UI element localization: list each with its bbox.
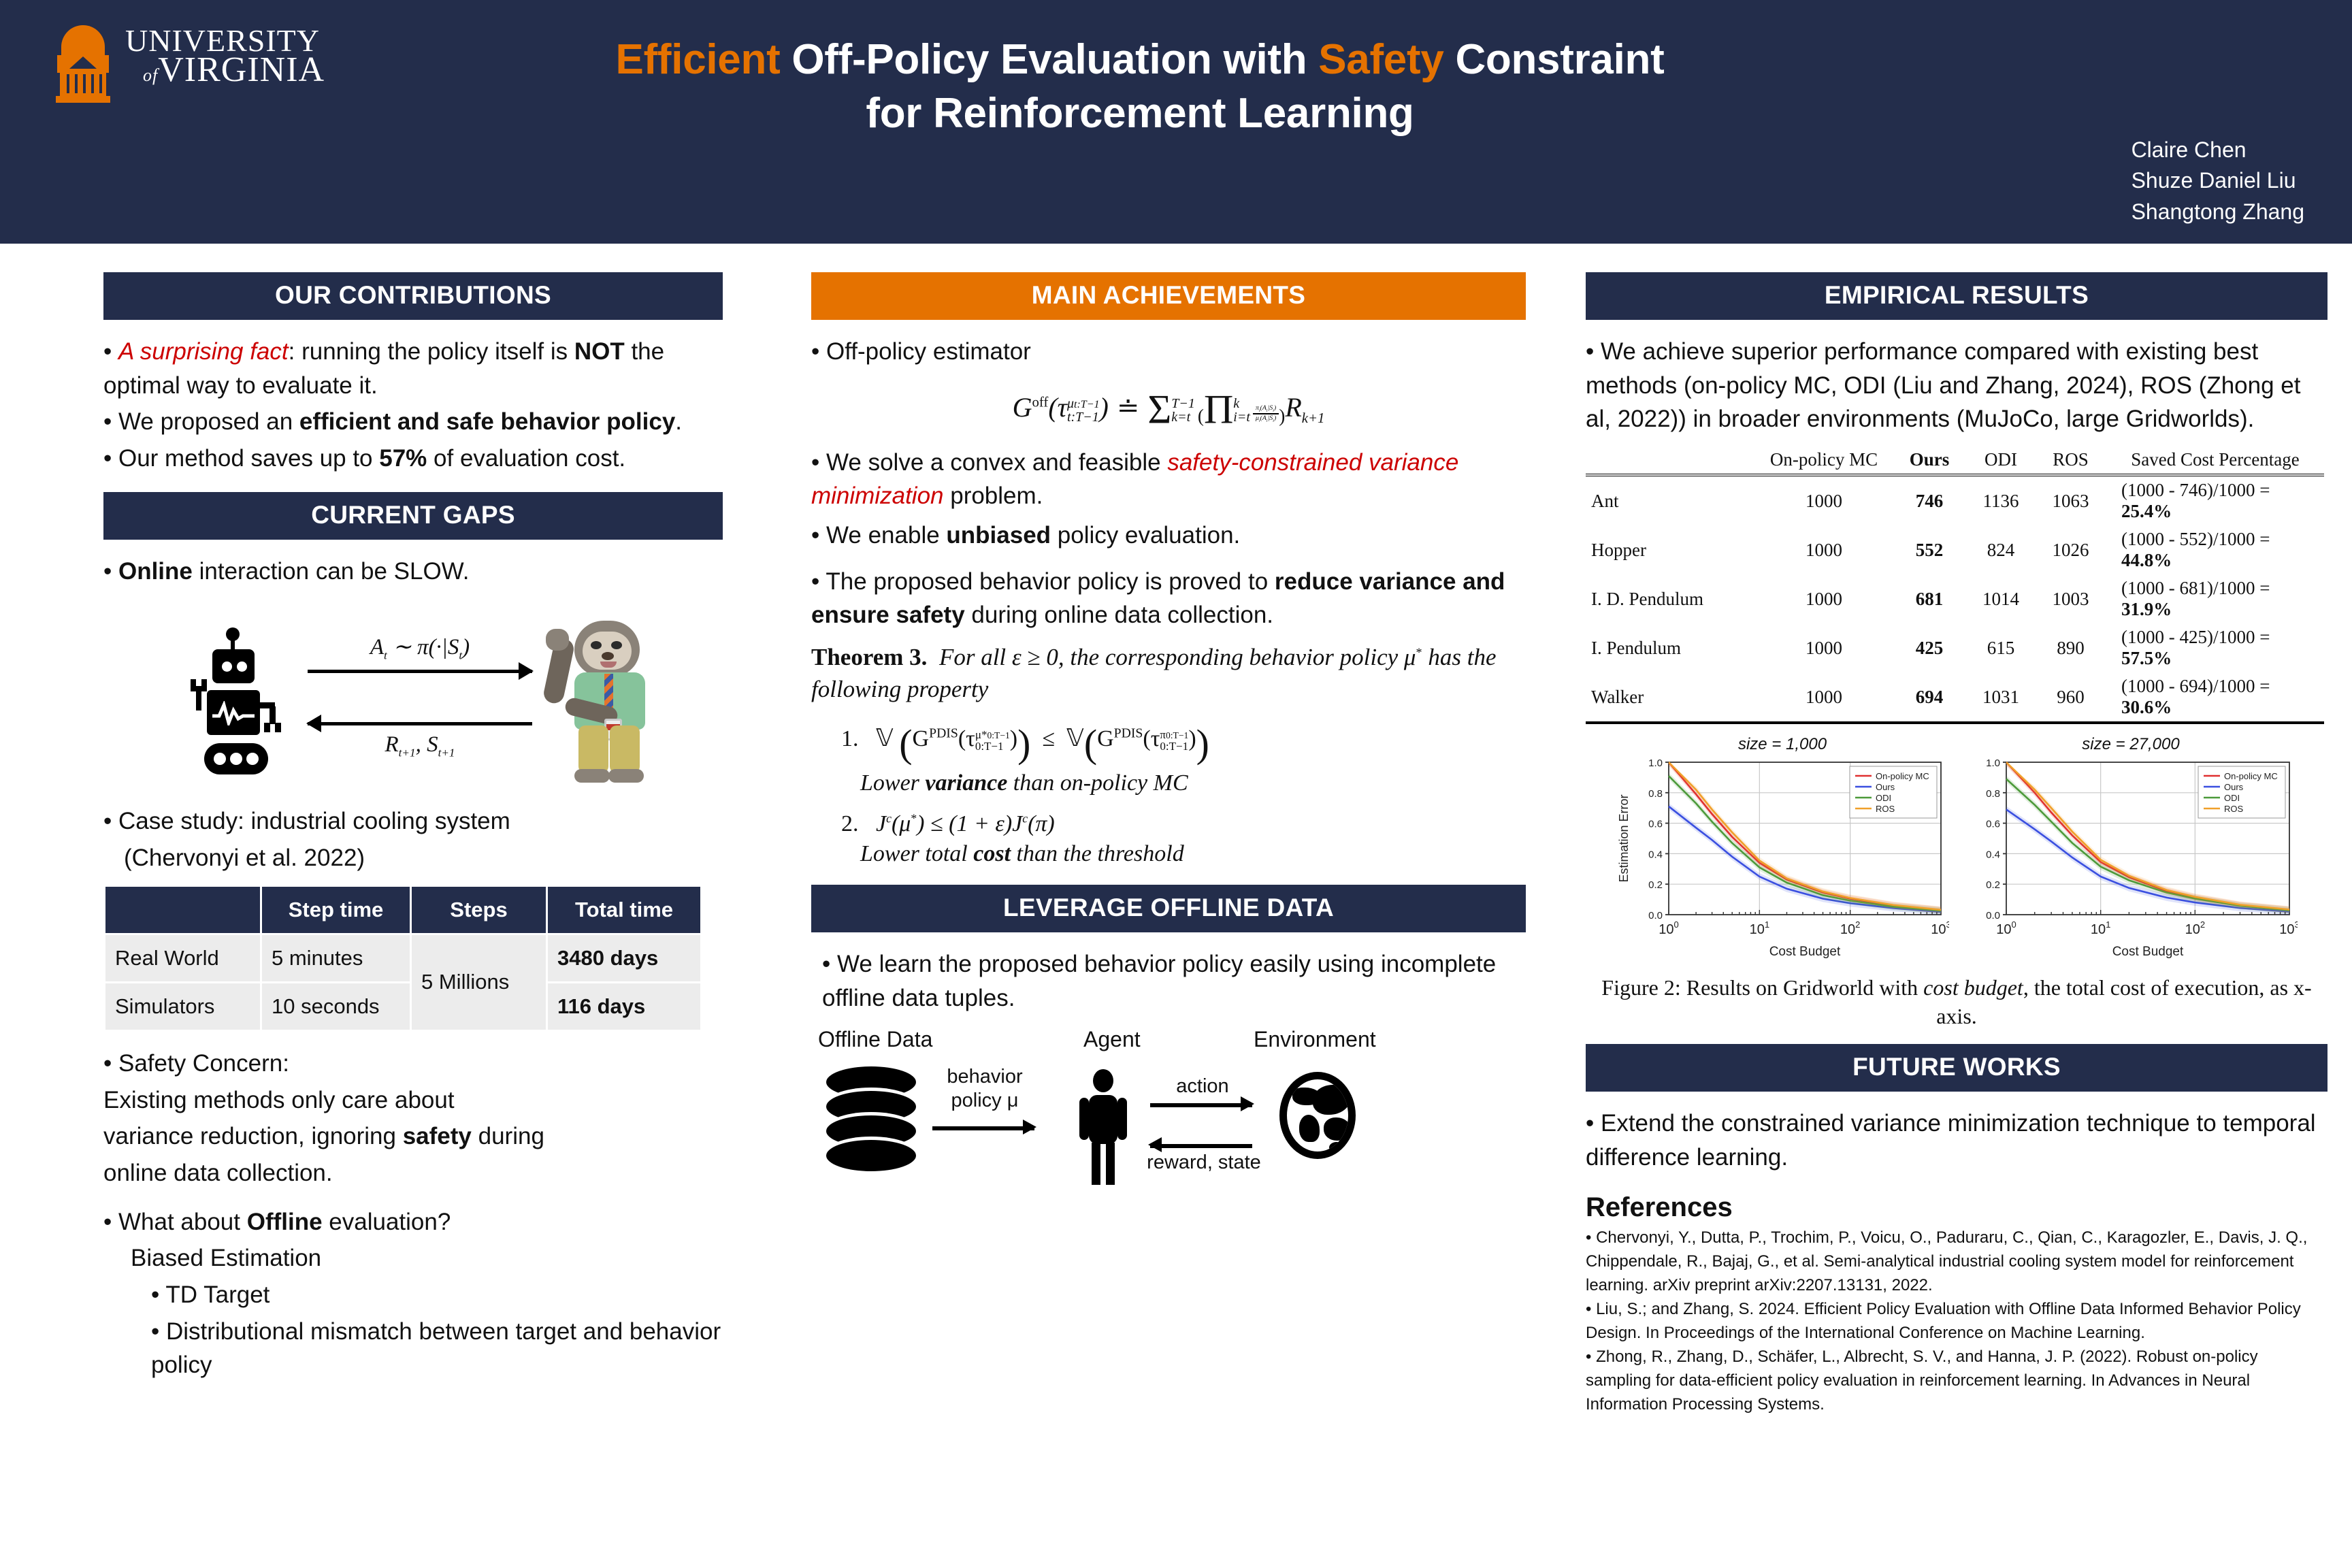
arrow-label-action: action — [1151, 1075, 1254, 1098]
res-ours-i-pendulum: 425 — [1892, 623, 1967, 672]
svg-text:103: 103 — [1931, 919, 1949, 937]
achievements-bullet-3: • We enable unbiased policy evaluation. — [811, 519, 1526, 553]
res-ros-ant: 1063 — [2035, 475, 2106, 525]
title-efficient: Efficient — [616, 36, 781, 83]
results-header-row: On-policy MC Ours ODI ROS Saved Cost Per… — [1586, 446, 2324, 474]
reference-item-1: • Chervonyi, Y., Dutta, P., Trochim, P.,… — [1586, 1226, 2327, 1297]
res-saved-hopper: (1000 - 552)/1000 = 44.8% — [2106, 525, 2324, 574]
title-mid1: Off-Policy Evaluation with — [780, 36, 1318, 83]
contribution-bullet-1: • A surprising fact: running the policy … — [103, 335, 723, 402]
th-blank — [105, 885, 261, 934]
res-env-ant: Ant — [1586, 475, 1756, 525]
res-th-odi: ODI — [1967, 446, 2035, 474]
table-row: Ant 1000 746 1136 1063 (1000 - 746)/1000… — [1586, 475, 2324, 525]
svg-text:1.0: 1.0 — [1986, 757, 2000, 769]
arrow-reward-left — [308, 722, 532, 725]
charts-container: size = 1,000 0.00.20.40.60.81.0100101102… — [1586, 735, 2327, 963]
future-bullet-1: • Extend the constrained variance minimi… — [1586, 1107, 2327, 1174]
svg-text:On-policy MC: On-policy MC — [1876, 771, 1929, 781]
svg-text:101: 101 — [1750, 919, 1769, 937]
table-row: Walker 1000 694 1031 960 (1000 - 694)/10… — [1586, 672, 2324, 721]
table-row: I. D. Pendulum 1000 681 1014 1003 (1000 … — [1586, 574, 2324, 623]
res-mc-hopper: 1000 — [1756, 525, 1892, 574]
th-steps: Steps — [411, 885, 547, 934]
cell-step-time-real: 5 minutes — [261, 934, 411, 982]
section-header-leverage-offline-data: LEVERAGE OFFLINE DATA — [811, 885, 1526, 932]
arrow-env-to-agent — [1150, 1144, 1252, 1148]
svg-text:Ours: Ours — [2224, 782, 2244, 792]
cell-step-time-sim: 10 seconds — [261, 982, 411, 1030]
theorem-item-2-note: Lower total cost than the threshold — [811, 841, 1526, 867]
table-row: I. Pendulum 1000 425 615 890 (1000 - 425… — [1586, 623, 2324, 672]
database-icon — [826, 1066, 916, 1175]
res-saved-i-pendulum: (1000 - 425)/1000 = 57.5% — [2106, 623, 2324, 672]
title-line-1: Efficient Off-Policy Evaluation with Saf… — [476, 33, 1803, 86]
author-2: Shuze Daniel Liu — [2131, 165, 2304, 196]
svg-text:0.6: 0.6 — [1986, 819, 2000, 830]
res-saved-ant: (1000 - 746)/1000 = 25.4% — [2106, 475, 2324, 525]
section-header-contributions: OUR CONTRIBUTIONS — [103, 272, 723, 320]
svg-text:0.0: 0.0 — [1648, 910, 1663, 921]
res-ros-id-pendulum: 1003 — [2035, 574, 2106, 623]
chart-svg-2: 0.00.20.40.60.81.0100101102103Cost Budge… — [1964, 755, 2298, 960]
middle-column: MAIN ACHIEVEMENTS • Off-policy estimator… — [811, 272, 1526, 1204]
cell-total-sim: 116 days — [547, 982, 702, 1030]
svg-text:0.4: 0.4 — [1648, 849, 1663, 860]
future-works-body: • Extend the constrained variance minimi… — [1586, 1107, 2327, 1174]
chart-svg-1: 0.00.20.40.60.81.0100101102103Cost Budge… — [1616, 755, 1949, 960]
label-environment: Environment — [1254, 1027, 1376, 1052]
safety-line-1: • Safety Concern: — [103, 1047, 723, 1081]
res-saved-id-pendulum: (1000 - 681)/1000 = 31.9% — [2106, 574, 2324, 623]
th-total-time: Total time — [547, 885, 702, 934]
achievements-bullet-2: • We solve a convex and feasible safety-… — [811, 446, 1526, 513]
res-env-i-pendulum: I. Pendulum — [1586, 623, 1756, 672]
res-ros-hopper: 1026 — [2035, 525, 2106, 574]
off-policy-estimator-formula: Goff(τμt:T−1t:T−1) ≐ ΣT−1k=t (Πki=t πi(A… — [811, 387, 1526, 434]
res-env-walker: Walker — [1586, 672, 1756, 721]
achievements-bullet-4: • The proposed behavior policy is proved… — [811, 565, 1526, 632]
offline-sub-1: Biased Estimation — [103, 1241, 723, 1275]
res-mc-i-pendulum: 1000 — [1756, 623, 1892, 672]
robot-icon — [184, 627, 286, 781]
arrow-agent-to-env — [1150, 1103, 1252, 1107]
svg-text:Estimation Error: Estimation Error — [1617, 795, 1631, 883]
theorem-item-1: 1. 𝕍 (GPDIS(τμ*0:T−10:T−1)) ≤ 𝕍(GPDIS(τπ… — [811, 721, 1526, 766]
res-th-saved-cost: Saved Cost Percentage — [2106, 446, 2324, 474]
offline-data-bullet-1: • We learn the proposed behavior policy … — [822, 947, 1526, 1015]
table-row: Hopper 1000 552 824 1026 (1000 - 552)/10… — [1586, 525, 2324, 574]
theorem-3: Theorem 3. For all ε ≥ 0, the correspond… — [811, 642, 1526, 706]
svg-text:0.2: 0.2 — [1986, 879, 2000, 891]
cell-steps-merged: 5 Millions — [411, 934, 547, 1030]
references-list: • Chervonyi, Y., Dutta, P., Trochim, P.,… — [1586, 1226, 2327, 1416]
res-odi-hopper: 824 — [1967, 525, 2035, 574]
right-column: EMPIRICAL RESULTS • We achieve superior … — [1586, 272, 2327, 1416]
table-row: Simulators 10 seconds 116 days — [105, 982, 702, 1030]
theorem-label: Theorem 3. — [811, 644, 927, 670]
res-th-on-policy-mc: On-policy MC — [1756, 446, 1892, 474]
title-line-2: for Reinforcement Learning — [476, 86, 1803, 140]
svg-text:On-policy MC: On-policy MC — [2224, 771, 2278, 781]
contribution-bullet-2: • We proposed an efficient and safe beha… — [103, 405, 723, 439]
achievements-bullet-1: • Off-policy estimator — [811, 335, 1526, 369]
res-saved-walker: (1000 - 694)/1000 = 30.6% — [2106, 672, 2324, 721]
theorem-item-1-note: Lower variance than on-policy MC — [811, 770, 1526, 796]
res-odi-id-pendulum: 1014 — [1967, 574, 2035, 623]
figure-caption: Figure 2: Results on Gridworld with cost… — [1586, 974, 2327, 1030]
svg-text:103: 103 — [2279, 919, 2298, 937]
svg-text:102: 102 — [2185, 919, 2205, 937]
section-header-empirical-results: EMPIRICAL RESULTS — [1586, 272, 2327, 320]
logo-line-virginia: ofVIRGINIA — [125, 54, 325, 86]
achievements-bullet-1-wrap: • Off-policy estimator — [811, 335, 1526, 369]
case-study-text: • Case study: industrial cooling system … — [103, 804, 723, 875]
logo-of: of — [143, 65, 158, 85]
label-agent: Agent — [1083, 1027, 1141, 1052]
chart-title-1: size = 1,000 — [1616, 735, 1949, 754]
title-safety: Safety — [1318, 36, 1443, 83]
svg-text:Cost Budget: Cost Budget — [2112, 945, 2184, 959]
res-ours-ant: 746 — [1892, 475, 1967, 525]
res-odi-walker: 1031 — [1967, 672, 2035, 721]
action-formula-label: At ∼ π(·|St) — [308, 633, 532, 663]
res-odi-ant: 1136 — [1967, 475, 2035, 525]
svg-text:0.8: 0.8 — [1648, 788, 1663, 800]
author-1: Claire Chen — [2131, 135, 2304, 165]
offline-eval-block: • What about Offline evaluation? Biased … — [103, 1205, 723, 1382]
case-study-line-1: • Case study: industrial cooling system — [103, 804, 723, 838]
chart-size-1000: size = 1,000 0.00.20.40.60.81.0100101102… — [1616, 735, 1949, 963]
table-row: Real World 5 minutes 5 Millions 3480 day… — [105, 934, 702, 982]
section-header-future-works: FUTURE WORKS — [1586, 1044, 2327, 1092]
empirical-results-table: On-policy MC Ours ODI ROS Saved Cost Per… — [1586, 446, 2324, 724]
gaps-body: • Online interaction can be SLOW. — [103, 555, 723, 589]
case-study-table: Step time Steps Total time Real World 5 … — [103, 885, 702, 1032]
svg-text:0.0: 0.0 — [1986, 910, 2000, 921]
sloth-image — [539, 615, 665, 785]
offline-sub-3: • Distributional mismatch between target… — [103, 1315, 723, 1382]
offline-data-body: • We learn the proposed behavior policy … — [811, 947, 1526, 1015]
cell-total-real: 3480 days — [547, 934, 702, 982]
case-study-line-2: (Chervonyi et al. 2022) — [103, 841, 723, 875]
res-ros-i-pendulum: 890 — [2035, 623, 2106, 672]
surprising-fact-text: A surprising fact — [118, 338, 289, 365]
safety-concern-block: • Safety Concern: Existing methods only … — [103, 1047, 723, 1190]
svg-text:0.8: 0.8 — [1986, 788, 2000, 800]
arrow-label-reward-state: reward, state — [1146, 1151, 1262, 1174]
res-ours-hopper: 552 — [1892, 525, 1967, 574]
environment-globe-icon — [1279, 1072, 1356, 1159]
references-heading: References — [1586, 1192, 2327, 1223]
author-list: Claire Chen Shuze Daniel Liu Shangtong Z… — [2131, 135, 2304, 227]
res-mc-id-pendulum: 1000 — [1756, 574, 1892, 623]
arrow-label-behavior-policy: behavior policy μ — [930, 1065, 1039, 1111]
svg-text:ODI: ODI — [2224, 793, 2240, 803]
safety-line-4: online data collection. — [103, 1156, 723, 1190]
rl-interaction-diagram: At ∼ π(·|St) Rt+1, St+1 — [103, 602, 723, 799]
svg-text:0.6: 0.6 — [1648, 819, 1663, 830]
contribution-bullet-3: • Our method saves up to 57% of evaluati… — [103, 442, 723, 476]
reference-item-3: • Zhong, R., Zhang, D., Schäfer, L., Alb… — [1586, 1345, 2327, 1416]
res-mc-ant: 1000 — [1756, 475, 1892, 525]
title-mid2: Constraint — [1444, 36, 1665, 83]
svg-text:ROS: ROS — [1876, 804, 1895, 814]
chart-size-27000: size = 27,000 0.00.20.40.60.81.010010110… — [1964, 735, 2298, 963]
svg-text:ROS: ROS — [2224, 804, 2244, 814]
svg-text:100: 100 — [1659, 919, 1678, 937]
author-3: Shangtong Zhang — [2131, 197, 2304, 227]
res-th-ros: ROS — [2035, 446, 2106, 474]
safety-line-2: Existing methods only care about — [103, 1083, 723, 1117]
res-th-blank — [1586, 446, 1756, 474]
gaps-bullet-1: • Online interaction can be SLOW. — [103, 555, 723, 589]
poster-header: UNIVERSITY ofVIRGINIA Efficient Off-Poli… — [0, 0, 2352, 244]
svg-text:0.4: 0.4 — [1986, 849, 2000, 860]
uva-logo: UNIVERSITY ofVIRGINIA — [53, 19, 339, 94]
agent-icon — [1078, 1069, 1128, 1185]
svg-text:1.0: 1.0 — [1648, 757, 1663, 769]
theorem-item-2: 2. Jc(μ*) ≤ (1 + ε)Jc(π) — [811, 811, 1526, 837]
svg-text:0.2: 0.2 — [1648, 879, 1663, 891]
section-header-current-gaps: CURRENT GAPS — [103, 492, 723, 540]
svg-text:100: 100 — [1996, 919, 2016, 937]
svg-text:Ours: Ours — [1876, 782, 1895, 792]
safety-line-3: variance reduction, ignoring safety duri… — [103, 1120, 723, 1154]
offline-question: • What about Offline evaluation? — [103, 1205, 723, 1239]
label-offline-data: Offline Data — [818, 1027, 932, 1052]
th-step-time: Step time — [261, 885, 411, 934]
table-header-row: Step time Steps Total time — [105, 885, 702, 934]
cell-env-real-world: Real World — [105, 934, 261, 982]
arrow-action-right — [308, 670, 532, 673]
res-ours-id-pendulum: 681 — [1892, 574, 1967, 623]
contributions-body: • A surprising fact: running the policy … — [103, 335, 723, 476]
svg-text:101: 101 — [2091, 919, 2110, 937]
offline-data-diagram: Offline Data Agent Environment behavior … — [811, 1027, 1526, 1204]
reward-formula-label: Rt+1, St+1 — [308, 732, 532, 760]
arrow-offline-to-agent — [932, 1126, 1034, 1130]
res-env-id-pendulum: I. D. Pendulum — [1586, 574, 1756, 623]
interaction-arrows: At ∼ π(·|St) Rt+1, St+1 — [308, 633, 532, 759]
empirical-body: • We achieve superior performance compar… — [1586, 335, 2327, 436]
empirical-bullet-1: • We achieve superior performance compar… — [1586, 335, 2327, 436]
offline-sub-2: • TD Target — [103, 1278, 723, 1312]
section-header-main-achievements: MAIN ACHIEVEMENTS — [811, 272, 1526, 320]
res-mc-walker: 1000 — [1756, 672, 1892, 721]
res-env-hopper: Hopper — [1586, 525, 1756, 574]
results-bottom-rule — [1586, 721, 2324, 723]
res-th-ours: Ours — [1892, 446, 1967, 474]
res-ros-walker: 960 — [2035, 672, 2106, 721]
res-ours-walker: 694 — [1892, 672, 1967, 721]
chart-title-2: size = 27,000 — [1964, 735, 2298, 754]
achievements-body: • We solve a convex and feasible safety-… — [811, 446, 1526, 632]
svg-text:ODI: ODI — [1876, 793, 1891, 803]
svg-text:102: 102 — [1840, 919, 1860, 937]
cell-env-simulators: Simulators — [105, 982, 261, 1030]
svg-text:Cost Budget: Cost Budget — [1769, 945, 1841, 959]
res-odi-i-pendulum: 615 — [1967, 623, 2035, 672]
poster-title: Efficient Off-Policy Evaluation with Saf… — [476, 33, 1803, 141]
reference-item-2: • Liu, S.; and Zhang, S. 2024. Efficient… — [1586, 1297, 2327, 1345]
rotunda-icon — [53, 25, 113, 88]
left-column: OUR CONTRIBUTIONS • A surprising fact: r… — [103, 272, 723, 1385]
